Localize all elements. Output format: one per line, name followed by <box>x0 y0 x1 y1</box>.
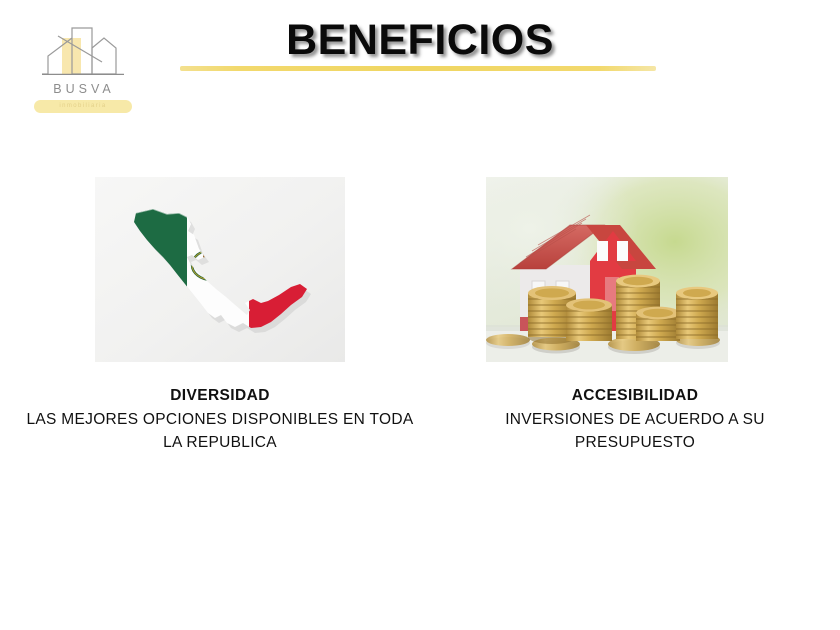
logo-tagline-highlight: inmobiliaria <box>34 100 132 113</box>
benefit-caption: ACCESIBILIDAD INVERSIONES DE ACUERDO A S… <box>450 384 820 454</box>
logo-tagline: inmobiliaria <box>34 100 132 113</box>
benefit-caption: DIVERSIDAD LAS MEJORES OPCIONES DISPONIB… <box>20 384 420 454</box>
benefit-body: INVERSIONES DE ACUERDO A SU PRESUPUESTO <box>450 408 820 454</box>
page-title: BENEFICIOS <box>0 16 840 65</box>
title-underline-rule <box>180 66 656 71</box>
benefit-title: DIVERSIDAD <box>20 384 420 407</box>
benefit-card-diversidad: DIVERSIDAD LAS MEJORES OPCIONES DISPONIB… <box>20 177 420 454</box>
mexico-map-flag-image <box>95 177 345 362</box>
house-coins-image <box>486 177 728 362</box>
benefit-card-accesibilidad: ACCESIBILIDAD INVERSIONES DE ACUERDO A S… <box>450 177 820 454</box>
benefit-title: ACCESIBILIDAD <box>450 384 820 407</box>
logo-name: BUSVA <box>28 82 136 96</box>
benefit-body: LAS MEJORES OPCIONES DISPONIBLES EN TODA… <box>20 408 420 454</box>
